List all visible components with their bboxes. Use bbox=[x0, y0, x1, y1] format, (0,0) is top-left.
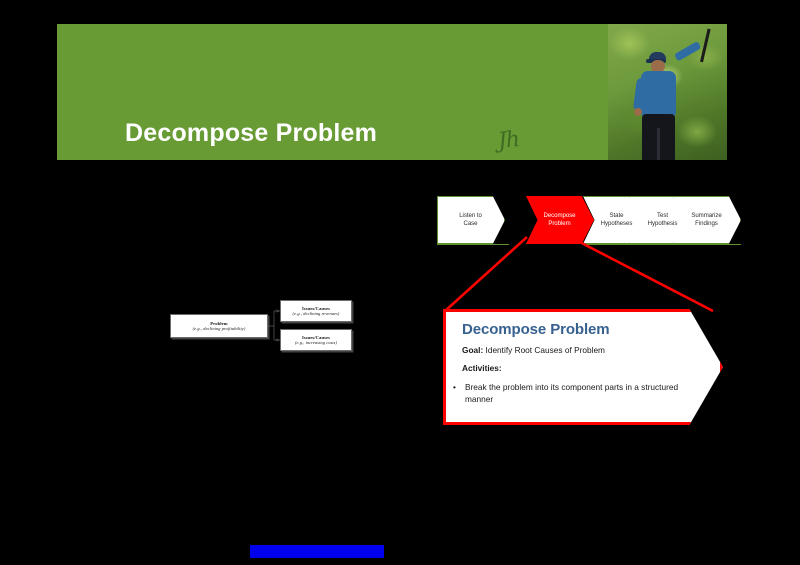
callout-goal-text: Identify Root Causes of Problem bbox=[483, 345, 605, 355]
callout-title: Decompose Problem bbox=[462, 321, 682, 338]
step-label-line1: Listen to bbox=[459, 212, 482, 219]
step-label-line2: Problem bbox=[548, 220, 570, 227]
process-step-label: Summarize Findings bbox=[687, 212, 726, 228]
callout-activities-row: Activities: bbox=[462, 363, 682, 374]
tree-node-example: (e.g., declining profitability) bbox=[193, 326, 246, 331]
page-title: Decompose Problem bbox=[125, 119, 377, 148]
process-step-label: Listen to Case bbox=[455, 212, 487, 228]
process-step-label: State Hypotheses bbox=[597, 212, 638, 228]
bullet-point-icon: • bbox=[453, 381, 465, 405]
process-step-decompose-problem[interactable]: Decompose Problem bbox=[526, 196, 594, 244]
callout-bullet-item: • Break the problem into its component p… bbox=[462, 381, 682, 405]
callout-box: Decompose Problem Goal: Identify Root Ca… bbox=[443, 309, 723, 425]
step-label-line2: Hypothesis bbox=[648, 220, 678, 227]
tree-node-issue-2: Issues/Causes (e.g., increasing costs) bbox=[280, 329, 352, 351]
step-label-line1: Test bbox=[657, 212, 668, 219]
golfer-hand bbox=[634, 108, 642, 116]
golf-club-icon bbox=[700, 29, 711, 63]
process-step-listen-to-case[interactable]: Listen to Case bbox=[437, 196, 505, 244]
slide-canvas: Decompose Problem Jh Listen to Case Deco… bbox=[0, 0, 800, 565]
chevron-underline bbox=[583, 244, 741, 246]
step-label-line2: Findings bbox=[695, 220, 718, 227]
golfer-leg-separation bbox=[657, 128, 660, 160]
tree-node-example: (e.g., declining revenues) bbox=[293, 311, 340, 316]
callout-bullet-text: Break the problem into its component par… bbox=[465, 381, 682, 405]
callout-activities-label: Activities: bbox=[462, 363, 502, 373]
step-label-line2: Hypotheses bbox=[601, 220, 633, 227]
footer-link[interactable]: www.consultingcase101.com bbox=[250, 545, 384, 558]
callout-content: Decompose Problem Goal: Identify Root Ca… bbox=[446, 312, 720, 422]
golfer-photo bbox=[608, 24, 727, 160]
header-banner: Decompose Problem bbox=[57, 24, 727, 160]
step-label-line1: Summarize bbox=[691, 212, 721, 219]
callout-connector-lines bbox=[430, 235, 730, 320]
golfer-raised-arm bbox=[674, 41, 701, 61]
tree-node-issue-1: Issues/Causes (e.g., declining revenues) bbox=[280, 300, 352, 322]
step-label-line1: Decompose bbox=[543, 212, 575, 219]
golfer-torso bbox=[641, 71, 676, 116]
step-label-line2: Case bbox=[463, 220, 477, 227]
issue-tree-diagram: Problem (e.g., declining profitability) … bbox=[170, 298, 352, 358]
chevron-underline bbox=[437, 244, 509, 246]
tree-node-example: (e.g., increasing costs) bbox=[295, 340, 337, 345]
callout-goal-row: Goal: Identify Root Causes of Problem bbox=[462, 345, 682, 356]
process-step-label: Test Hypothesis bbox=[644, 212, 683, 228]
tree-node-problem: Problem (e.g., declining profitability) bbox=[170, 314, 268, 338]
process-flow: Listen to Case Decompose Problem State H… bbox=[437, 196, 733, 244]
process-step-label: Decompose Problem bbox=[539, 212, 580, 228]
step-label-line1: State bbox=[610, 212, 624, 219]
callout-goal-label: Goal: bbox=[462, 345, 483, 355]
